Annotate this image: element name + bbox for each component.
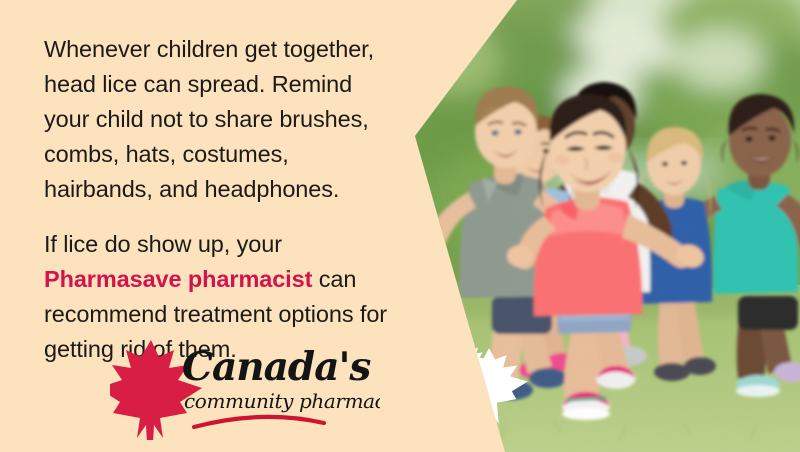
cta-text-before: If lice do show up, your [44, 231, 282, 257]
white-maple-leaf-medium [420, 364, 466, 409]
canadas-community-pharmacy-logo[interactable]: Canada's community pharmacy [110, 336, 380, 440]
brand-pharmacist-highlight: Pharmasave pharmacist [44, 266, 312, 292]
paragraph-primary-message: Whenever children get together, head lic… [44, 32, 394, 207]
logo-line-community-pharmacy: community pharmacy [184, 389, 380, 413]
logo-artwork: Canada's community pharmacy [110, 336, 380, 440]
advertisement-banner: Whenever children get together, head lic… [0, 0, 800, 452]
red-swoosh-underline [194, 417, 324, 427]
ad-copy-block: Whenever children get together, head lic… [44, 32, 394, 367]
logo-line-canadas: Canada's [182, 344, 371, 390]
